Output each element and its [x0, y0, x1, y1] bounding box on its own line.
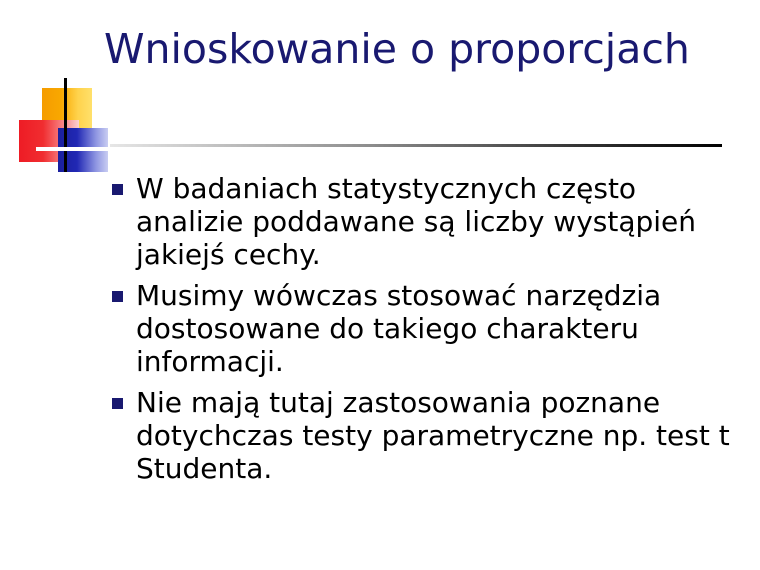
square-bullet-icon: [112, 184, 123, 195]
logo-horizontal-line: [36, 147, 114, 151]
list-item: Nie mają tutaj zastosowania poznane doty…: [104, 386, 750, 485]
slide-body-content: W badaniach statystycznych często analiz…: [104, 172, 750, 493]
list-item-text: W badaniach statystycznych często analiz…: [136, 172, 750, 271]
list-item: Musimy wówczas stosować narzędzia dostos…: [104, 279, 750, 378]
presentation-slide: Wnioskowanie o proporcjach W badaniach s…: [0, 0, 760, 570]
square-bullet-icon: [112, 291, 123, 302]
list-item-text: Nie mają tutaj zastosowania poznane doty…: [136, 386, 750, 485]
logo-vertical-line: [64, 78, 67, 172]
title-divider-rule: [110, 144, 722, 147]
square-bullet-icon: [112, 398, 123, 409]
slide-title: Wnioskowanie o proporcjach: [104, 26, 734, 73]
decorative-logo: [18, 78, 114, 172]
list-item: W badaniach statystycznych często analiz…: [104, 172, 750, 271]
list-item-text: Musimy wówczas stosować narzędzia dostos…: [136, 279, 750, 378]
